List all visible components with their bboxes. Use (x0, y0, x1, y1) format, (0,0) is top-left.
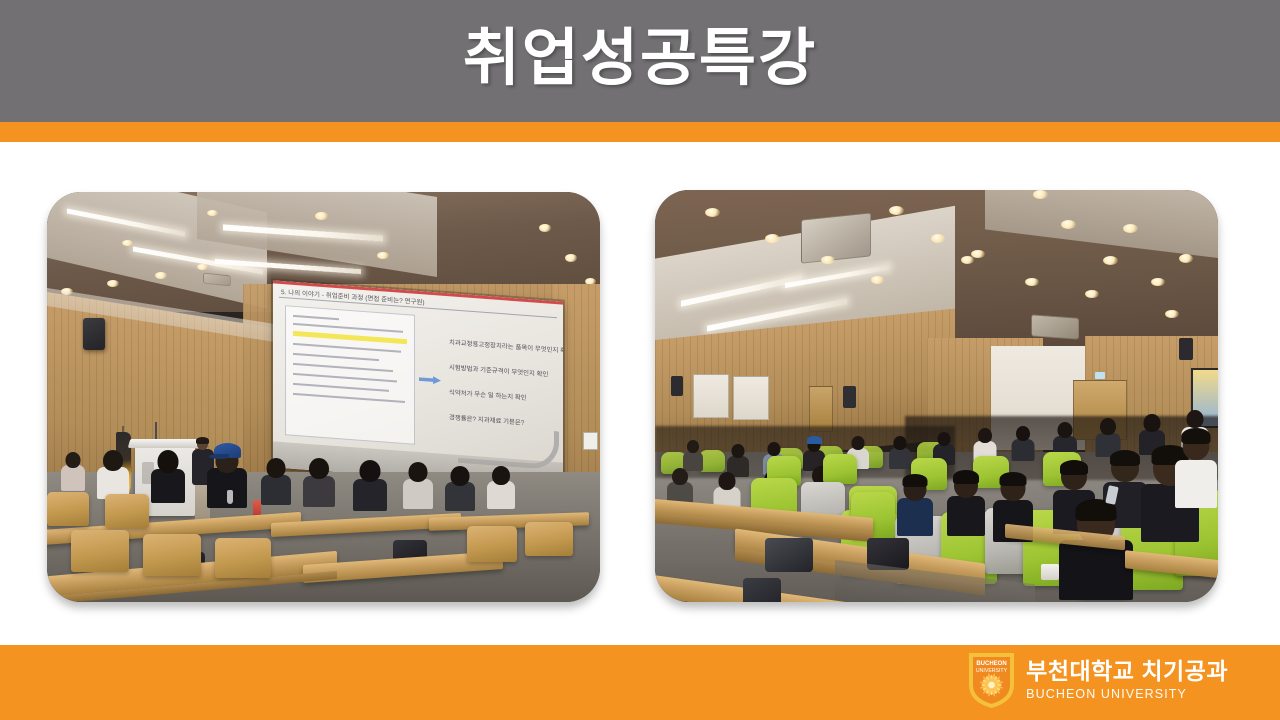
university-logo: BUCHEON UNIVERSITY 부천대학교 치기공과 BUCHEON UN… (968, 652, 1228, 708)
header-accent-rule (0, 122, 1280, 142)
person-head (1144, 414, 1161, 432)
downlight (377, 252, 389, 259)
downlight (821, 256, 835, 264)
person-hair (1000, 472, 1027, 486)
audience-person (889, 436, 911, 468)
downlight (155, 272, 167, 279)
photo-content-right (655, 190, 1218, 602)
person-body (261, 475, 291, 505)
projection-board (733, 376, 769, 420)
slide-text-line (293, 373, 397, 383)
person-hair (1110, 450, 1140, 466)
slide-highlight (293, 331, 407, 344)
person-head (267, 458, 286, 478)
downlight (197, 264, 208, 270)
title-banner: 취업성공특강 (0, 0, 1280, 122)
person-body (1011, 439, 1034, 461)
person-head (978, 428, 992, 443)
person-hair (903, 474, 928, 487)
ceiling-air-vent (801, 212, 871, 263)
audience-person (947, 472, 985, 534)
downlight (1025, 278, 1039, 286)
audience-person (261, 458, 291, 504)
wall-mounted-speaker (83, 318, 105, 350)
exit-sign (1095, 372, 1105, 379)
chair (143, 534, 201, 576)
person-head (451, 466, 470, 486)
audience-person (151, 450, 185, 502)
downlight (971, 250, 985, 258)
person-head (768, 442, 781, 456)
person-head (103, 450, 123, 471)
footer-bar: BUCHEON UNIVERSITY 부천대학교 치기공과 BUCHEON UN… (0, 645, 1280, 720)
wall-speaker (843, 386, 856, 408)
svg-text:UNIVERSITY: UNIVERSITY (976, 668, 1008, 674)
slide-text-line (293, 393, 405, 403)
downlight (565, 254, 577, 262)
presenter-hair (196, 437, 209, 444)
person-body (947, 496, 985, 536)
logo-text-block: 부천대학교 치기공과 BUCHEON UNIVERSITY (1026, 660, 1228, 701)
person-head (66, 452, 81, 468)
downlight (931, 234, 945, 243)
wall-speaker (671, 376, 683, 396)
baseball-cap (807, 436, 822, 444)
downlight (1061, 220, 1076, 229)
downlight (122, 240, 133, 246)
slide-text-line (293, 353, 379, 361)
person-hair (1060, 460, 1088, 475)
logo-korean-name: 부천대학교 치기공과 (1026, 660, 1228, 683)
projection-board (693, 374, 729, 418)
person-body (151, 469, 185, 503)
slide-bullet: 식약처가 무슨 일 하는지 확인 (449, 387, 527, 402)
person-head (687, 440, 699, 453)
bucheon-university-shield-icon: BUCHEON UNIVERSITY (968, 652, 1015, 708)
downlight (1085, 290, 1099, 298)
slide-text-line (293, 315, 339, 320)
slide-text-line (293, 363, 393, 372)
audience-seating-photo (655, 190, 1218, 602)
chair (525, 522, 573, 556)
downlight (207, 210, 218, 216)
backpack (765, 538, 813, 572)
chair (823, 454, 857, 484)
person-hair (953, 470, 979, 484)
audience-person (353, 460, 387, 510)
slide-bullet: 치과교정용고정장치라는 품목이 무엇인지 확인 (449, 337, 563, 355)
downlight (1165, 310, 1179, 318)
slide-text-line (293, 343, 401, 353)
person-head (894, 436, 907, 450)
water-bottle (227, 490, 233, 504)
logo-english-name: BUCHEON UNIVERSITY (1026, 688, 1228, 701)
downlight (1103, 256, 1118, 265)
cup (1041, 564, 1059, 580)
person-body (445, 482, 475, 511)
ceiling-air-vent (1031, 314, 1079, 339)
downlight (961, 256, 974, 264)
chair (467, 526, 517, 562)
person-head (672, 468, 688, 485)
person-head (1016, 426, 1030, 441)
downlight (871, 276, 884, 284)
svg-text:BUCHEON: BUCHEON (976, 661, 1006, 667)
chair (47, 492, 89, 526)
cap-brim (209, 454, 229, 459)
person-head (852, 436, 865, 450)
person-body (1175, 460, 1217, 508)
person-head (158, 450, 179, 473)
downlight (889, 206, 904, 215)
person-head (492, 466, 510, 485)
person-body (303, 476, 335, 507)
person-head (1186, 410, 1203, 428)
audience-person (403, 462, 433, 508)
slide-left-text-box (285, 305, 415, 445)
downlight (1151, 278, 1165, 286)
slide-bullet: 시험방법과 기준규격이 무엇인지 확인 (449, 362, 548, 378)
person-head (718, 472, 735, 490)
person-body (897, 498, 933, 536)
lecture-hall-speaker-photo: 5. 나의 이야기 - 취업준비 과정 (면접 준비는? 연구원) 치과교정용고… (47, 192, 600, 602)
audience-person (683, 440, 703, 470)
person-head (409, 462, 428, 482)
photo-content-left: 5. 나의 이야기 - 취업준비 과정 (면접 준비는? 연구원) 치과교정용고… (47, 192, 600, 602)
downlight (315, 212, 328, 220)
slide-text-line (293, 383, 389, 392)
audience-person (1175, 430, 1217, 504)
audience-person (1011, 426, 1034, 460)
downlight (1179, 254, 1193, 263)
person-hair (1182, 428, 1211, 444)
person-body (403, 479, 433, 509)
person-body (61, 465, 85, 491)
audience-person (97, 450, 129, 498)
downlight (107, 280, 119, 287)
person-body (487, 481, 515, 509)
person-head (309, 458, 329, 479)
person-head (1058, 422, 1073, 438)
person-head (360, 460, 381, 482)
wall-speaker (1179, 338, 1193, 360)
audience-person (61, 452, 85, 490)
wall-sign (583, 432, 598, 450)
audience-person (897, 476, 933, 534)
page-title: 취업성공특강 (463, 28, 817, 94)
downlight (1123, 224, 1138, 233)
slide-arrow-icon (419, 375, 441, 385)
downlight (765, 234, 780, 243)
chair (215, 538, 271, 578)
chair (105, 494, 149, 528)
person-head (938, 432, 951, 446)
downlight (705, 208, 720, 217)
audience-person (303, 458, 335, 506)
backpack (743, 578, 781, 602)
person-body (353, 479, 387, 511)
downlight (1033, 190, 1048, 199)
person-body (889, 448, 911, 469)
downlight (539, 224, 551, 232)
chair (71, 530, 129, 572)
person-head (1100, 418, 1116, 435)
audience-person (487, 466, 515, 508)
person-head (732, 444, 745, 458)
audience-person (445, 466, 475, 510)
